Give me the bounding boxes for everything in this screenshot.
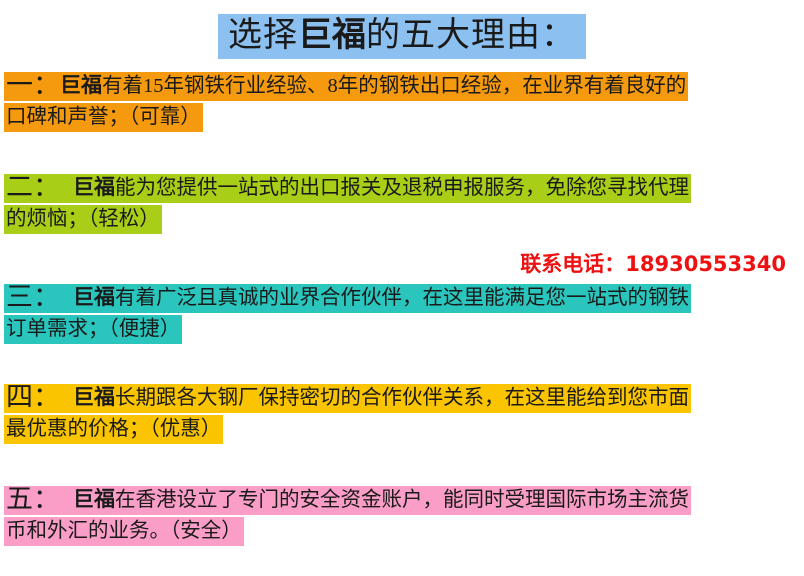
- reason-2-line-2: 的烦恼；（轻松）: [4, 204, 800, 235]
- reason-3-brand: 巨福: [73, 285, 115, 309]
- reason-3-text-line-1: 有着广泛且真诚的业界合作伙伴，在这里能满足您一站式的钢铁: [115, 287, 689, 309]
- reason-1-text-line-2: 口碑和声誉；（可靠）: [4, 103, 203, 132]
- reason-1-brand: 巨福: [60, 73, 102, 97]
- reason-5-line-1: 五：巨福在香港设立了专门的安全资金账户，能同时受理国际市场主流货: [4, 484, 800, 516]
- reason-3-line-1: 三：巨福有着广泛且真诚的业界合作伙伴，在这里能满足您一站式的钢铁: [4, 282, 800, 314]
- page-title: 选择巨福的五大理由：: [0, 14, 804, 59]
- reason-1-line-2: 口碑和声誉；（可靠）: [4, 102, 800, 133]
- contact-phone-text: 联系电话：18930553340: [520, 252, 786, 276]
- reason-4-text-line-2: 最优惠的价格；（优惠）: [4, 415, 223, 444]
- page-title-highlight: 选择巨福的五大理由：: [218, 14, 586, 59]
- reason-4-line-1: 四：巨福长期跟各大钢厂保持密切的合作伙伴关系，在这里能给到您市面: [4, 382, 800, 414]
- reason-1-line-1: 一：巨福有着15年钢铁行业经验、8年的钢铁出口经验，在业界有着良好的: [4, 70, 800, 102]
- reason-2-text-line-1: 能为您提供一站式的出口报关及退税申报服务，免除您寻找代理: [115, 177, 689, 199]
- reason-5-line-2: 币和外汇的业务。（安全）: [4, 516, 800, 547]
- reason-3-line-2: 订单需求；（便捷）: [4, 314, 800, 345]
- slide-page: 选择巨福的五大理由： 一：巨福有着15年钢铁行业经验、8年的钢铁出口经验，在业界…: [0, 0, 804, 576]
- reason-2-line-1: 二：巨福能为您提供一站式的出口报关及退税申报服务，免除您寻找代理: [4, 172, 800, 204]
- reason-item-1: 一：巨福有着15年钢铁行业经验、8年的钢铁出口经验，在业界有着良好的 口碑和声誉…: [4, 70, 800, 133]
- title-prefix: 选择: [228, 17, 298, 54]
- reason-item-3: 三：巨福有着广泛且真诚的业界合作伙伴，在这里能满足您一站式的钢铁 订单需求；（便…: [4, 282, 800, 345]
- reason-item-2: 二：巨福能为您提供一站式的出口报关及退税申报服务，免除您寻找代理 的烦恼；（轻松…: [4, 172, 800, 235]
- reason-4-text-line-1: 长期跟各大钢厂保持密切的合作伙伴关系，在这里能给到您市面: [115, 387, 689, 409]
- reason-2-numeral: 二：: [6, 172, 60, 202]
- reason-5-text-line-1: 在香港设立了专门的安全资金账户，能同时受理国际市场主流货: [115, 489, 689, 511]
- reason-4-numeral: 四：: [6, 382, 60, 412]
- reason-1-text-line-1: 有着15年钢铁行业经验、8年的钢铁出口经验，在业界有着良好的: [102, 75, 686, 97]
- title-suffix: 的五大理由：: [366, 17, 576, 54]
- reason-3-text-line-2: 订单需求；（便捷）: [4, 315, 182, 344]
- title-brand: 巨福: [298, 15, 366, 55]
- reason-item-5: 五：巨福在香港设立了专门的安全资金账户，能同时受理国际市场主流货 币和外汇的业务…: [4, 484, 800, 547]
- reason-item-4: 四：巨福长期跟各大钢厂保持密切的合作伙伴关系，在这里能给到您市面 最优惠的价格；…: [4, 382, 800, 445]
- reason-5-text-line-2: 币和外汇的业务。（安全）: [4, 517, 244, 546]
- reason-4-brand: 巨福: [73, 385, 115, 409]
- reason-2-text-line-2: 的烦恼；（轻松）: [4, 205, 162, 234]
- reason-5-brand: 巨福: [73, 487, 115, 511]
- reason-3-numeral: 三：: [6, 282, 60, 312]
- reason-4-line-2: 最优惠的价格；（优惠）: [4, 414, 800, 445]
- contact-phone: 联系电话：18930553340: [0, 248, 786, 278]
- reason-1-numeral: 一：: [6, 70, 60, 100]
- reason-2-brand: 巨福: [73, 175, 115, 199]
- reason-5-numeral: 五：: [6, 484, 60, 514]
